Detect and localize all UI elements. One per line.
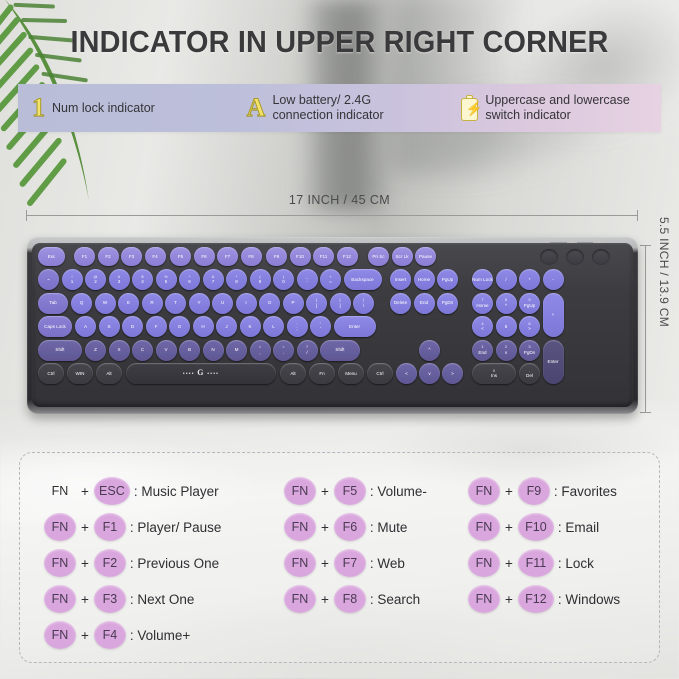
shortcut-modifier-key: FN — [468, 477, 500, 505]
keycap-numpad-multiply: * — [519, 269, 540, 290]
shortcut-key-f4: F4 — [94, 621, 126, 649]
keycap-numpad-0: 0Ins — [472, 363, 516, 384]
led-indicator-a — [566, 249, 584, 265]
keycap-key: ?/ — [297, 340, 318, 361]
shortcut-row: FN+F6: Mute — [284, 509, 474, 545]
led-marker-a: A — [571, 239, 574, 244]
keycap-insert: Insert — [390, 269, 411, 290]
dimension-width-label: 17 INCH / 45 CM — [0, 193, 679, 207]
dimension-height-label: 5.5 INCH / 13.9 CM — [657, 208, 671, 336]
legend-label-num-lock: Num lock indicator — [52, 101, 155, 116]
shortcut-row: FN+F8: Search — [284, 581, 474, 617]
shortcut-row: FN+F3: Next One — [44, 581, 274, 617]
shortcut-column-1: FN+ESC: Music PlayerFN+F1: Player/ Pause… — [44, 473, 274, 653]
keycap-numpad-1: 1End — [472, 340, 493, 361]
keycap-numpad-6: 6> — [519, 316, 540, 337]
keycap-key: += — [320, 269, 341, 290]
shortcut-plus-sign: + — [320, 520, 330, 535]
keycap-7: &7 — [203, 269, 224, 290]
keycap-arrow-down: v — [419, 363, 440, 384]
shortcut-row: FN+F1: Player/ Pause — [44, 509, 274, 545]
keyboard-deck: EscF1F2F3F4F5F6F7F8F9F10F11F12Pri ScScr … — [32, 243, 633, 407]
shortcut-column-2: FN+F5: Volume-FN+F6: MuteFN+F7: WebFN+F8… — [284, 473, 474, 617]
shortcut-plus-sign: + — [320, 556, 330, 571]
keycap-tab: Tab — [38, 293, 68, 314]
keycap-key: <, — [250, 340, 271, 361]
shortcut-plus-sign: + — [504, 484, 514, 499]
keycap-key: >. — [273, 340, 294, 361]
keycap-space: •••• G •••• — [126, 363, 276, 384]
keycap-fn: Fn — [309, 363, 335, 384]
shortcut-modifier-key: FN — [468, 513, 500, 541]
keycap-u: U — [212, 293, 233, 314]
keycap-9: (9 — [250, 269, 271, 290]
led-marker-battery: ▭ — [597, 239, 601, 245]
keycap-numpad-2: 2v — [496, 340, 517, 361]
keycap-8: *8 — [226, 269, 247, 290]
legend-item-num-lock: 1 Num lock indicator — [32, 95, 247, 121]
keycap-numpad-4: 4< — [472, 316, 493, 337]
keycap-f: F — [146, 316, 167, 337]
keycap-num-lock: Num Lock — [472, 269, 493, 290]
shortcut-plus-sign: + — [504, 556, 514, 571]
shortcut-row: FN+F5: Volume- — [284, 473, 474, 509]
shortcut-row: FN+F7: Web — [284, 545, 474, 581]
shortcut-action-label: : Previous One — [130, 556, 219, 571]
shortcut-key-f8: F8 — [334, 585, 366, 613]
keycap-numpad-enter: Enter — [543, 340, 564, 384]
shortcut-key-f3: F3 — [94, 585, 126, 613]
keycap-ctrl-left: Ctrl — [38, 363, 64, 384]
keycap-home: Home — [414, 269, 435, 290]
keycap-key: ~ — [38, 269, 59, 290]
shortcut-key-f7: F7 — [334, 549, 366, 577]
shortcut-action-label: : Next One — [130, 592, 195, 607]
keycap-t: T — [165, 293, 186, 314]
keycap-caps-lock: Caps Lock — [38, 316, 72, 337]
shortcut-row: FN+F11: Lock — [468, 545, 668, 581]
keycap-d: D — [122, 316, 143, 337]
shortcut-modifier-key: FN — [284, 585, 316, 613]
shortcut-row: FN+ESC: Music Player — [44, 473, 274, 509]
led-indicator-1 — [540, 249, 558, 265]
shortcut-plus-sign: + — [80, 592, 90, 607]
shortcut-action-label: : Web — [370, 556, 405, 571]
keycap-pgdn: PgDn — [437, 293, 458, 314]
caps-a-glyph-icon: A — [247, 95, 266, 121]
keycap-arrow-left: < — [396, 363, 417, 384]
shortcut-plus-sign: + — [80, 556, 90, 571]
num-lock-glyph-icon: 1 — [32, 95, 45, 121]
battery-bolt-icon: ⚡ — [461, 95, 478, 121]
keycap-numpad-plus: + — [543, 293, 564, 337]
keycap-win: WIN — [67, 363, 93, 384]
shortcut-modifier-key: FN — [468, 585, 500, 613]
keycap-scr-lk: Scr Lk — [392, 247, 413, 266]
keycap-shift-right: Shift — [320, 340, 360, 361]
keycap-arrow-right: > — [442, 363, 463, 384]
shortcut-modifier-key: FN — [44, 585, 76, 613]
shortcut-key-f11: F11 — [518, 549, 554, 577]
shortcut-action-label: : Volume- — [370, 484, 427, 499]
keycap-f5: F5 — [170, 247, 191, 266]
shortcut-plus-sign: + — [504, 520, 514, 535]
shortcut-row: FN+F12: Windows — [468, 581, 668, 617]
keycap-pri-sc: Pri Sc — [368, 247, 389, 266]
led-marker-rule-0 — [550, 242, 567, 243]
keycap-c: C — [132, 340, 153, 361]
shortcut-action-label: : Music Player — [134, 484, 219, 499]
dimension-width-line — [26, 215, 638, 216]
keycap-e: E — [118, 293, 139, 314]
keycap-2: @2 — [85, 269, 106, 290]
shortcut-action-label: : Email — [558, 520, 599, 535]
shortcut-plus-sign: + — [320, 592, 330, 607]
keycap-j: J — [216, 316, 237, 337]
shortcut-plus-sign: + — [80, 520, 90, 535]
keycap-alt-right: Alt — [280, 363, 306, 384]
keycap-numpad-divide: / — [496, 269, 517, 290]
page-title: INDICATOR IN UPPER RIGHT CORNER — [24, 24, 655, 60]
keycap-esc: Esc — [38, 247, 65, 266]
shortcut-action-label: : Windows — [558, 592, 620, 607]
keycap-key: {[ — [306, 293, 327, 314]
keycap-w: W — [95, 293, 116, 314]
shortcut-plus-sign: + — [80, 484, 90, 499]
keycap-0: )0 — [273, 269, 294, 290]
legend-label-low-battery: Low battery/ 2.4Gconnection indicator — [272, 93, 383, 123]
led-marker-rule-1 — [577, 242, 593, 243]
keycap-f2: F2 — [98, 247, 119, 266]
shortcut-plus-sign: + — [320, 484, 330, 499]
shortcut-action-label: : Volume+ — [130, 628, 190, 643]
keycap-z: Z — [85, 340, 106, 361]
shortcut-modifier-key: FN — [284, 549, 316, 577]
shortcut-key-f2: F2 — [94, 549, 126, 577]
keycap-ctrl-right: Ctrl — [367, 363, 393, 384]
keycap-a: A — [75, 316, 96, 337]
keycap-v: V — [156, 340, 177, 361]
shortcut-key-f5: F5 — [334, 477, 366, 505]
keycap-alt-left: Alt — [96, 363, 122, 384]
shortcut-key-f9: F9 — [518, 477, 550, 505]
legend-label-case-switch: Uppercase and lowercaseswitch indicator — [485, 93, 630, 123]
shortcut-key-f1: F1 — [94, 513, 126, 541]
legend-item-case-switch: ⚡ Uppercase and lowercaseswitch indicato… — [461, 93, 661, 123]
keycap-f8: F8 — [241, 247, 262, 266]
keycap-f9: F9 — [266, 247, 287, 266]
dimension-height-line — [645, 245, 646, 413]
keycap-f3: F3 — [121, 247, 142, 266]
led-indicator-battery — [592, 249, 610, 265]
keycap-h: H — [193, 316, 214, 337]
led-marker-1: 1 — [545, 239, 547, 244]
shortcut-plus-sign: + — [80, 628, 90, 643]
shortcut-plus-sign: + — [504, 592, 514, 607]
shortcut-legend-panel: FN+ESC: Music PlayerFN+F1: Player/ Pause… — [19, 452, 660, 663]
keycap-delete: Delete — [390, 293, 411, 314]
legend-item-low-battery: A Low battery/ 2.4Gconnection indicator — [247, 93, 462, 123]
keycap-5: %5 — [156, 269, 177, 290]
keycap-f7: F7 — [217, 247, 238, 266]
keycap-o: O — [259, 293, 280, 314]
shortcut-modifier-key: FN — [44, 477, 76, 505]
keycap-m: M — [226, 340, 247, 361]
keycap-backspace: Backspace — [344, 269, 382, 290]
keycap-l: L — [263, 316, 284, 337]
keycap-6: ^6 — [179, 269, 200, 290]
shortcut-modifier-key: FN — [468, 549, 500, 577]
keycap-key: "' — [310, 316, 331, 337]
keycap-numpad-8: 8^ — [496, 293, 517, 314]
keycap-f6: F6 — [194, 247, 215, 266]
shortcut-modifier-key: FN — [44, 549, 76, 577]
keycap-f1: F1 — [74, 247, 95, 266]
indicator-legend-bar: 1 Num lock indicator A Low battery/ 2.4G… — [18, 84, 661, 132]
keycap-key: }] — [330, 293, 351, 314]
keycap-f10: F10 — [290, 247, 311, 266]
keycap-b: B — [179, 340, 200, 361]
keycap-x: X — [109, 340, 130, 361]
keycap-k: K — [240, 316, 261, 337]
shortcut-modifier-key: FN — [284, 477, 316, 505]
keycap-p: P — [283, 293, 304, 314]
keycap-pgup: PgUp — [437, 269, 458, 290]
shortcut-row: FN+F10: Email — [468, 509, 668, 545]
keycap-f11: F11 — [313, 247, 334, 266]
keycap-s: S — [99, 316, 120, 337]
keycap-numpad-5: 5 — [496, 316, 517, 337]
keycap-shift-left: Shift — [38, 340, 82, 361]
shortcut-row: FN+F2: Previous One — [44, 545, 274, 581]
shortcut-action-label: : Search — [370, 592, 420, 607]
keycap-numpad-decimal: .Del — [519, 363, 540, 384]
keycap-y: Y — [189, 293, 210, 314]
shortcut-modifier-key: FN — [44, 513, 76, 541]
keycap-n: N — [203, 340, 224, 361]
keycap-key: |\ — [353, 293, 374, 314]
shortcut-key-esc: ESC — [94, 477, 130, 505]
shortcut-action-label: : Mute — [370, 520, 408, 535]
keycap-key: :; — [287, 316, 308, 337]
keycap-arrow-up: ^ — [419, 340, 440, 361]
shortcut-row: FN+F4: Volume+ — [44, 617, 274, 653]
keycap-numpad-minus: - — [543, 269, 564, 290]
shortcut-action-label: : Player/ Pause — [130, 520, 222, 535]
keycap-end: End — [414, 293, 435, 314]
shortcut-action-label: : Lock — [558, 556, 594, 571]
keycap-f4: F4 — [145, 247, 166, 266]
keycap-1: !1 — [62, 269, 83, 290]
shortcut-modifier-key: FN — [44, 621, 76, 649]
keycap-3: #3 — [109, 269, 130, 290]
shortcut-key-f6: F6 — [334, 513, 366, 541]
keycap-q: Q — [71, 293, 92, 314]
keycap-i: I — [236, 293, 257, 314]
keycap-f12: F12 — [337, 247, 358, 266]
keycap-r: R — [142, 293, 163, 314]
keycap-pause: Pause — [415, 247, 436, 266]
keycap-numpad-7: 7Home — [472, 293, 493, 314]
shortcut-row: FN+F9: Favorites — [468, 473, 668, 509]
shortcut-key-f12: F12 — [518, 585, 554, 613]
keycap-g: G — [169, 316, 190, 337]
keycap-4: $4 — [132, 269, 153, 290]
shortcut-modifier-key: FN — [284, 513, 316, 541]
shortcut-action-label: : Favorites — [554, 484, 617, 499]
shortcut-column-3: FN+F9: FavoritesFN+F10: EmailFN+F11: Loc… — [468, 473, 668, 617]
keycap-key: _- — [297, 269, 318, 290]
keycap-menu: Menu — [338, 363, 364, 384]
keycap-numpad-3: 3PgDn — [519, 340, 540, 361]
shortcut-key-f10: F10 — [518, 513, 554, 541]
keycap-enter: Enter — [334, 316, 376, 337]
keycap-numpad-9: 9PgUp — [519, 293, 540, 314]
keyboard-product-image: EscF1F2F3F4F5F6F7F8F9F10F11F12Pri ScScr … — [27, 237, 638, 414]
